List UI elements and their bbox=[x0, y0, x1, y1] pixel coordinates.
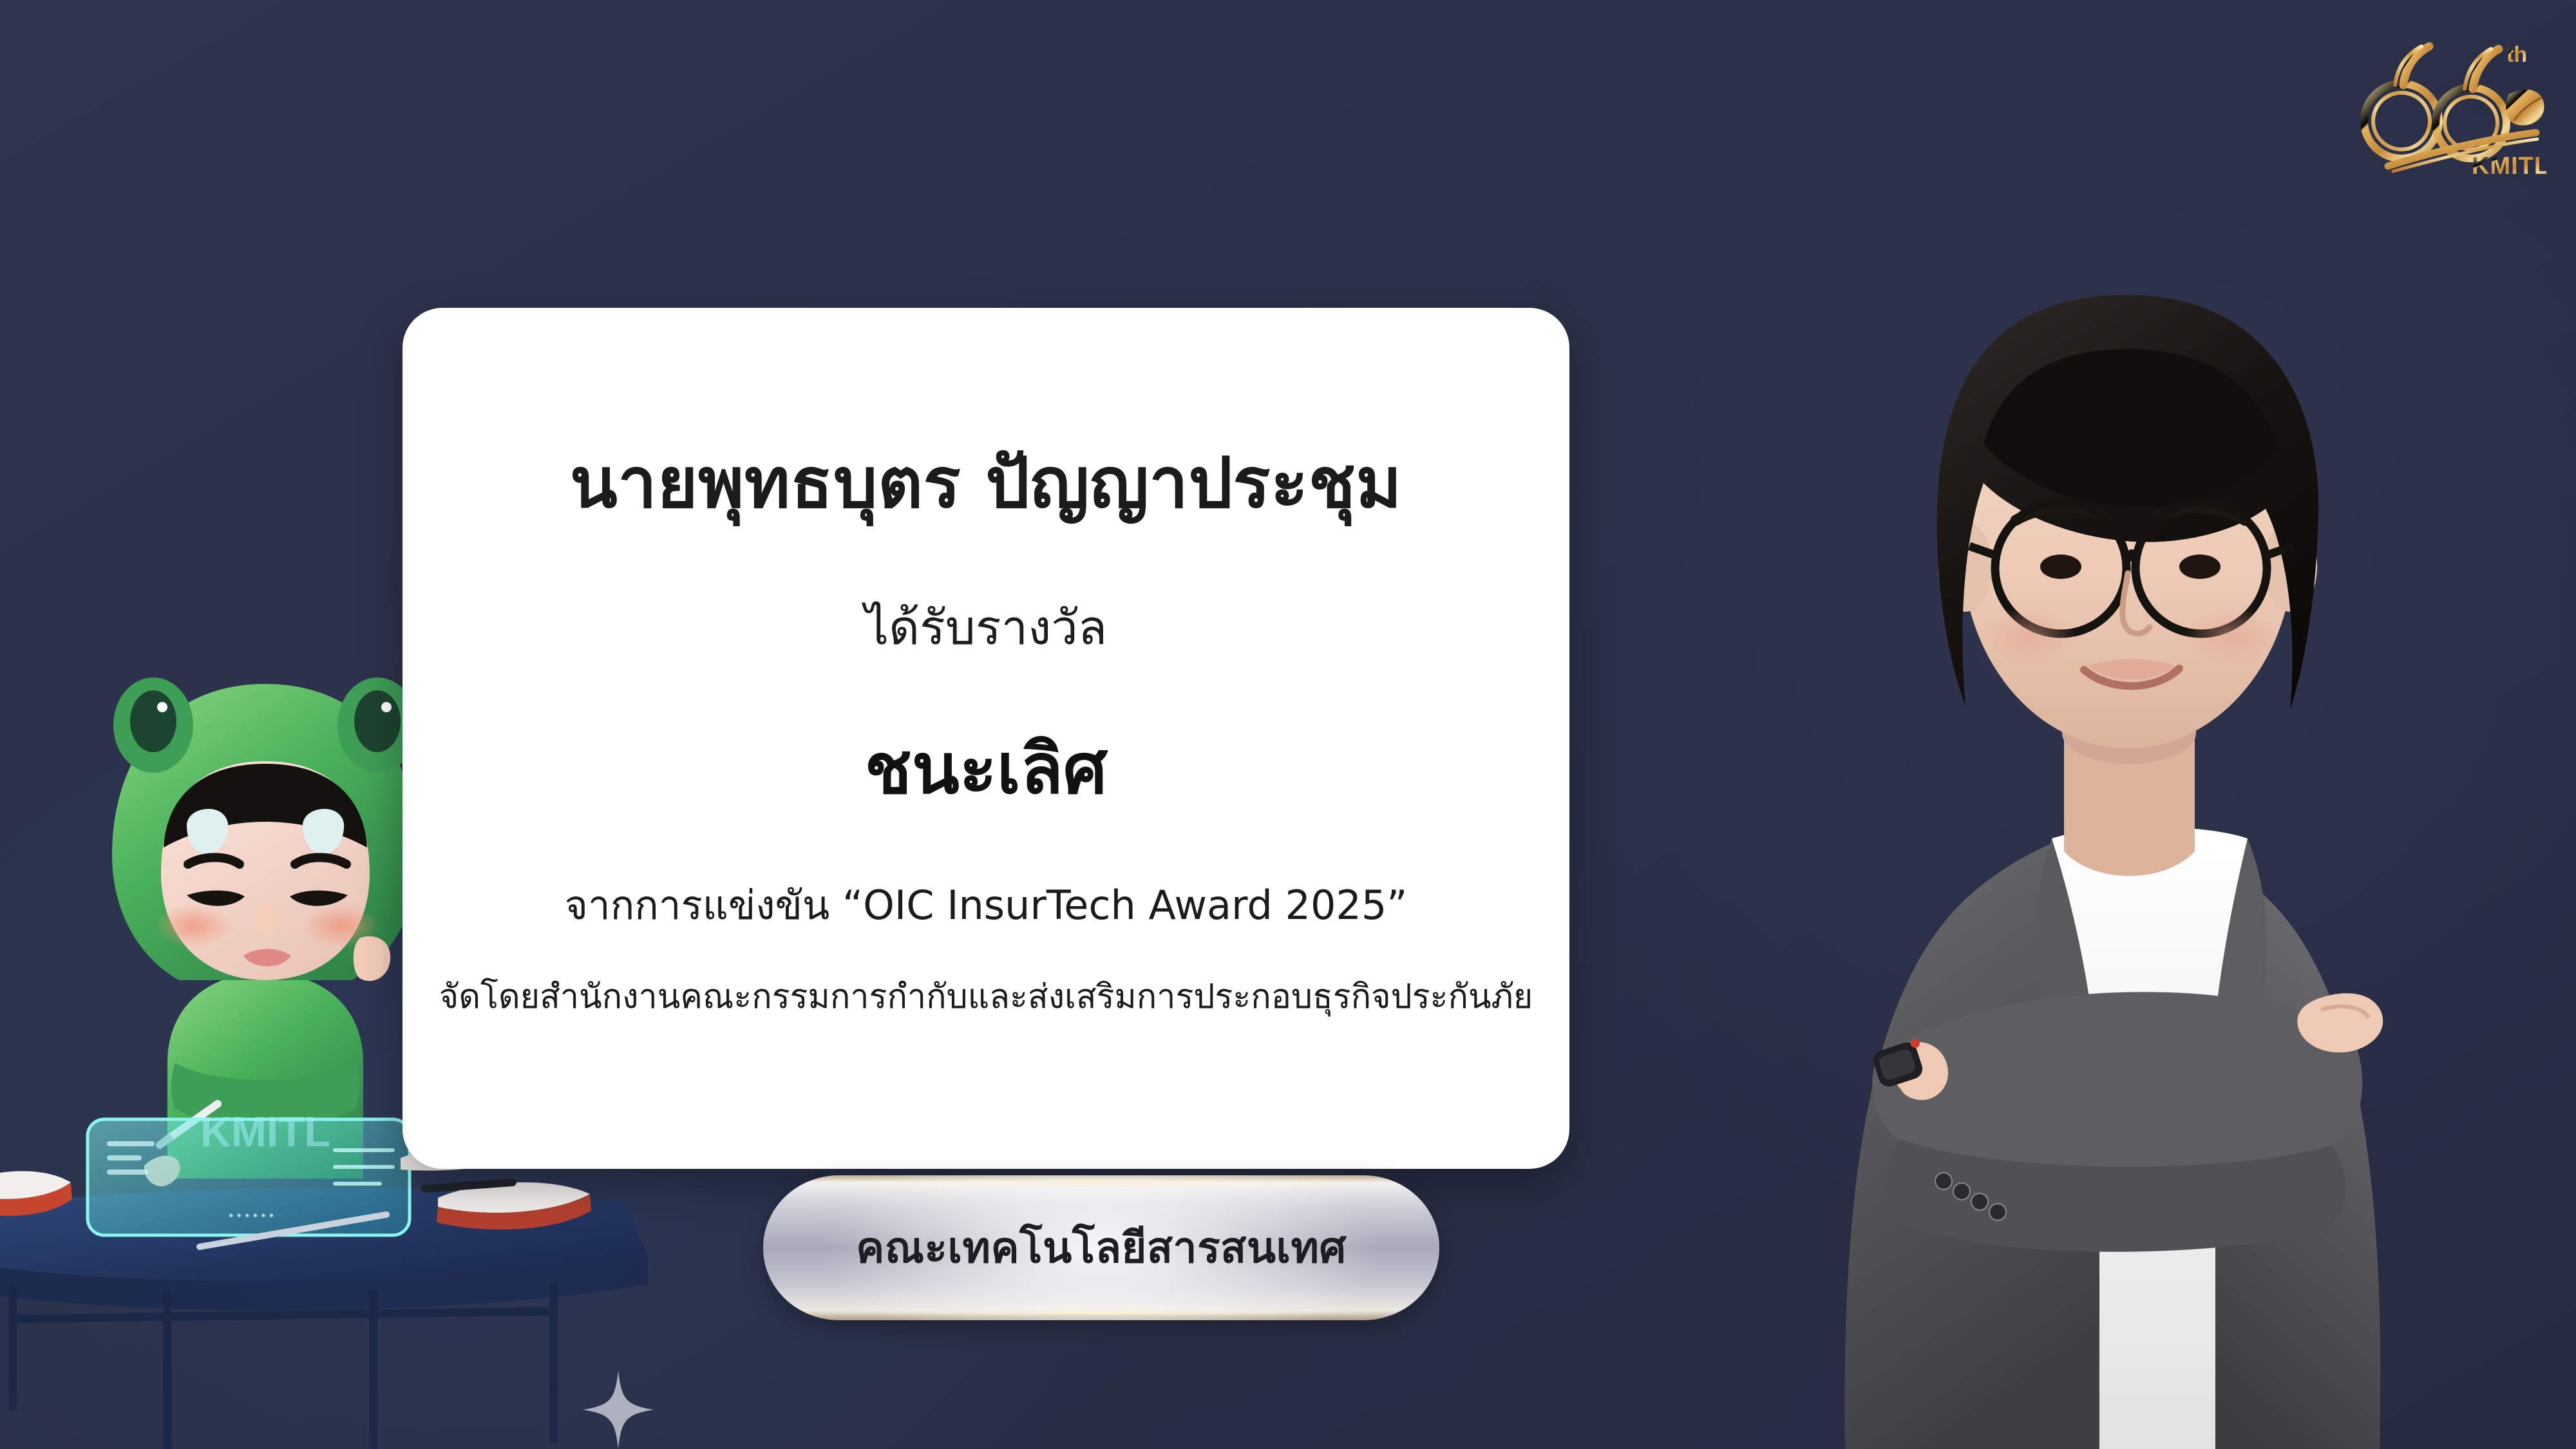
award-recipient-photo bbox=[1649, 58, 2576, 1449]
recipient-name: นายพุทธบุตร ปัญญาประชุม bbox=[570, 446, 1402, 522]
sparkle-icon bbox=[583, 1370, 654, 1449]
svg-text:• • • • • •: • • • • • • bbox=[229, 1209, 274, 1223]
organizer-name: จัดโดยสำนักงานคณะกรรมการกำกับและส่งเสริม… bbox=[439, 969, 1533, 1023]
received-label: ได้รับรางวัล bbox=[865, 589, 1107, 665]
faculty-name: คณะเทคโนโลยีสารสนเทศ bbox=[856, 1214, 1347, 1282]
award-card: นายพุทธบุตร ปัญญาประชุม ได้รับรางวัล ชนะ… bbox=[402, 308, 1569, 1169]
contest-name: จากการแข่งขัน “OIC InsurTech Award 2025” bbox=[565, 874, 1408, 937]
poster-stage: th KMITL bbox=[0, 0, 2576, 1449]
faculty-badge: คณะเทคโนโลยีสารสนเทศ bbox=[763, 1175, 1439, 1320]
prize-title: ชนะเลิศ bbox=[865, 713, 1108, 824]
